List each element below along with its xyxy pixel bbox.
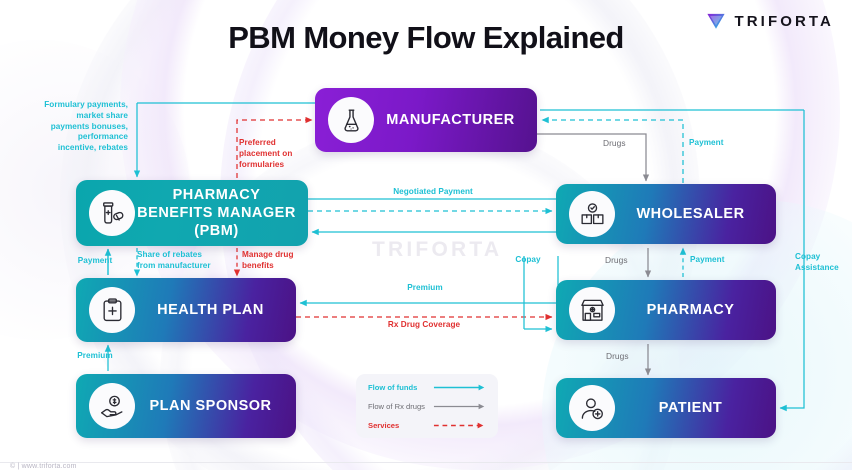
edge-label-copay: Copay xyxy=(505,255,551,266)
legend-item-services: Services xyxy=(368,421,488,430)
diagram-canvas: TRIFORTA PBM Money Flow Explained TRIFOR… xyxy=(0,0,852,470)
legend-label-services: Services xyxy=(368,421,427,430)
pill-bottle-icon xyxy=(89,190,135,236)
hand-coin-icon xyxy=(89,383,135,429)
footer-text: © | www.triforta.com xyxy=(10,463,77,470)
legend-label-flow-of-funds: Flow of funds xyxy=(368,383,427,392)
legend-item-flow-of-funds: Flow of funds xyxy=(368,383,488,392)
legend-arrow-gray-solid-icon xyxy=(433,402,488,411)
legend-arrow-teal-solid-icon xyxy=(433,383,488,392)
node-label-pbm: PHARMACY BENEFITS MANAGER (PBM) xyxy=(135,186,308,240)
edge-label-payment-pharmacy-wholesaler: Payment xyxy=(690,255,738,266)
footer-divider xyxy=(0,462,852,463)
legend: Flow of funds Flow of Rx drugs Services xyxy=(356,374,498,438)
node-health-plan[interactable]: HEALTH PLAN xyxy=(76,278,296,342)
node-label-health-plan: HEALTH PLAN xyxy=(135,301,296,319)
node-manufacturer[interactable]: MANUFACTURER xyxy=(315,88,537,152)
edge-label-manage-drug-benefits: Manage drug benefits xyxy=(242,250,310,272)
edge-label-payment-wholesaler-manufacturer: Payment xyxy=(689,138,737,149)
legend-arrow-red-dashed-icon xyxy=(433,421,488,430)
node-label-pharmacy: PHARMACY xyxy=(615,301,776,319)
node-label-manufacturer: MANUFACTURER xyxy=(374,111,537,129)
edge-label-drugs-pharmacy-patient: Drugs xyxy=(606,351,642,362)
edge-label-rx-drug-coverage: Rx Drug Coverage xyxy=(376,320,472,331)
clipboard-plus-icon xyxy=(89,287,135,333)
node-plan-sponsor[interactable]: PLAN SPONSOR xyxy=(76,374,296,438)
node-wholesaler[interactable]: WHOLESALER xyxy=(556,184,776,244)
flask-icon xyxy=(328,97,374,143)
legend-label-flow-of-rx-drugs: Flow of Rx drugs xyxy=(368,402,427,411)
boxes-icon xyxy=(569,191,615,237)
node-label-wholesaler: WHOLESALER xyxy=(615,205,776,223)
legend-item-flow-of-rx-drugs: Flow of Rx drugs xyxy=(368,402,488,411)
edge-label-premium-middle: Premium xyxy=(380,283,470,294)
pharmacy-store-icon xyxy=(569,287,615,333)
node-label-plan-sponsor: PLAN SPONSOR xyxy=(135,397,296,415)
edge-label-drugs-manufacturer-wholesaler: Drugs xyxy=(603,138,639,149)
edge-label-formulary-payments: Formulary payments, market share payment… xyxy=(18,100,128,154)
edge-label-drugs-wholesaler-pharmacy: Drugs xyxy=(605,255,641,266)
edge-label-negotiated-payment: Negotiated Payment xyxy=(373,187,493,198)
edge-label-copay-assistance: Copay Assistance xyxy=(795,252,851,274)
node-label-patient: PATIENT xyxy=(615,399,776,417)
node-pharmacy[interactable]: PHARMACY xyxy=(556,280,776,340)
node-patient[interactable]: PATIENT xyxy=(556,378,776,438)
edge-label-share-of-rebates: Share of rebates from manufacturer xyxy=(137,250,227,272)
edge-label-preferred-placement: Preferred placement on formularies xyxy=(239,138,321,170)
edge-label-payment-left: Payment xyxy=(68,256,122,267)
edge-label-premium-left: Premium xyxy=(66,351,124,362)
patient-icon xyxy=(569,385,615,431)
node-pbm[interactable]: PHARMACY BENEFITS MANAGER (PBM) xyxy=(76,180,308,246)
